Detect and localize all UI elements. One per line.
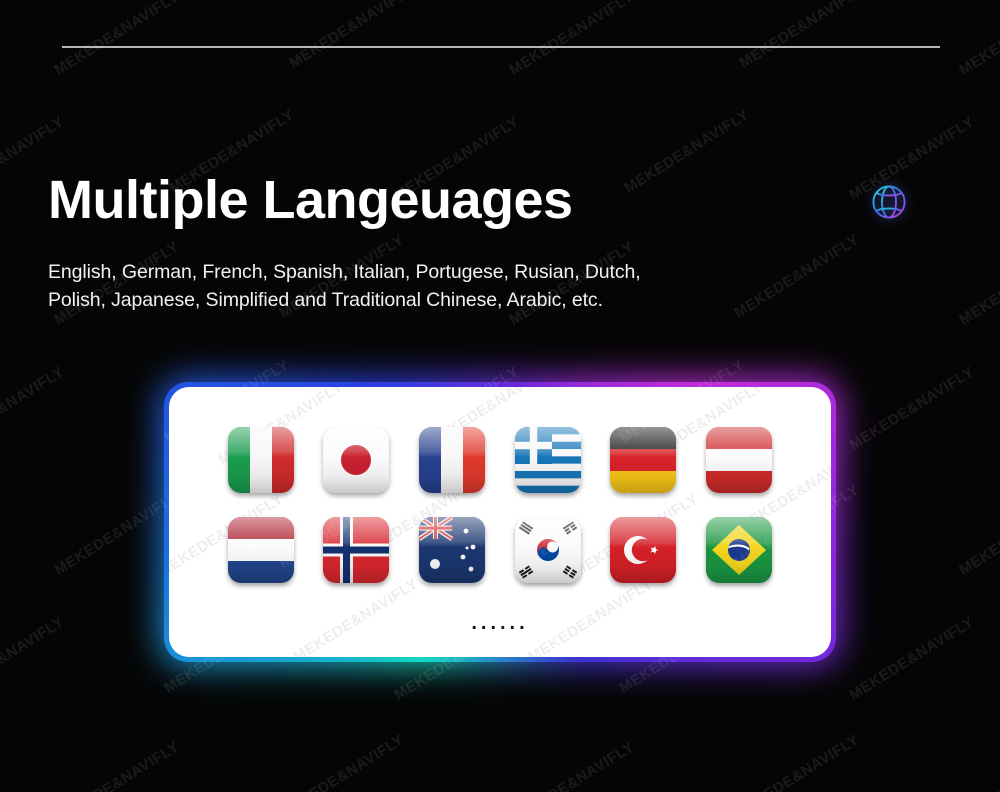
watermark: MEKEDE&NAVIFLY — [276, 731, 407, 792]
flag-austria-icon — [706, 427, 772, 493]
flag-netherlands-icon — [228, 517, 294, 583]
flag-france-icon — [419, 427, 485, 493]
globe-icon — [867, 180, 911, 224]
language-list-text: English, German, French, Spanish, Italia… — [48, 259, 808, 314]
flag-germany-icon — [610, 427, 676, 493]
watermark: MEKEDE&NAVIFLY — [846, 363, 977, 454]
watermark: MEKEDE&NAVIFLY — [736, 0, 867, 72]
flag-italy-icon — [228, 427, 294, 493]
slide-root: Multiple Langeuages English, German, Fre… — [0, 0, 1000, 792]
watermark: MEKEDE&NAVIFLY — [286, 0, 417, 72]
flag-australia[interactable] — [419, 517, 485, 583]
watermark: MEKEDE&NAVIFLY — [0, 363, 67, 454]
flag-japan-icon — [323, 427, 389, 493]
flag-turkey[interactable] — [610, 517, 676, 583]
watermark: MEKEDE&NAVIFLY — [956, 0, 1000, 79]
flag-brazil-icon — [706, 517, 772, 583]
page-title: Multiple Langeuages — [48, 172, 573, 229]
flag-netherlands[interactable] — [228, 517, 294, 583]
flag-brazil[interactable] — [706, 517, 772, 583]
more-flags-indicator: ...... — [169, 612, 831, 635]
flag-austria[interactable] — [706, 427, 772, 493]
watermark: MEKEDE&NAVIFLY — [731, 731, 862, 792]
flag-norway-icon — [323, 517, 389, 583]
watermark: MEKEDE&NAVIFLY — [51, 738, 182, 792]
watermark: MEKEDE&NAVIFLY — [506, 738, 637, 792]
flag-japan[interactable] — [323, 427, 389, 493]
watermark: MEKEDE&NAVIFLY — [51, 0, 182, 79]
watermark: MEKEDE&NAVIFLY — [846, 613, 977, 704]
flag-south-korea[interactable] — [515, 517, 581, 583]
language-list-line-1: English, German, French, Spanish, Italia… — [48, 259, 808, 287]
flag-grid — [169, 387, 831, 583]
watermark: MEKEDE&NAVIFLY — [621, 106, 752, 197]
card-border: ...... MEKEDE&NAVIFLY MEKEDE&NAVIFLY MEK… — [164, 382, 836, 662]
flag-greece-icon — [515, 427, 581, 493]
flag-south-korea-icon — [515, 517, 581, 583]
language-list-line-2: Polish, Japanese, Simplified and Traditi… — [48, 287, 808, 315]
flag-germany[interactable] — [610, 427, 676, 493]
flag-turkey-icon — [610, 517, 676, 583]
flag-italy[interactable] — [228, 427, 294, 493]
flag-australia-icon — [419, 517, 485, 583]
watermark: MEKEDE&NAVIFLY — [506, 0, 637, 79]
flag-france[interactable] — [419, 427, 485, 493]
watermark: MEKEDE&NAVIFLY — [956, 238, 1000, 329]
watermark: MEKEDE&NAVIFLY — [0, 613, 67, 704]
flag-greece[interactable] — [515, 427, 581, 493]
flag-norway[interactable] — [323, 517, 389, 583]
watermark: MEKEDE&NAVIFLY — [956, 488, 1000, 579]
top-divider — [62, 46, 940, 48]
flags-card: ...... MEKEDE&NAVIFLY MEKEDE&NAVIFLY MEK… — [169, 387, 831, 657]
watermark: MEKEDE&NAVIFLY — [956, 738, 1000, 792]
